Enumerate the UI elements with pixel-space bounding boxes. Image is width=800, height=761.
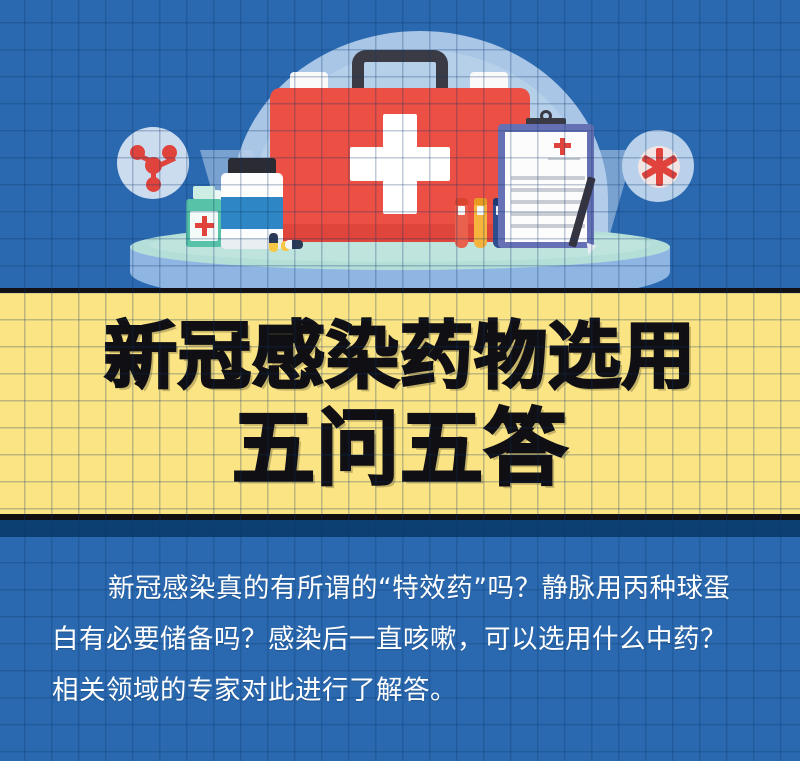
test-tube-red-cap <box>455 198 468 205</box>
test-tube-red-window <box>458 206 465 215</box>
capsule-icon-navy <box>292 240 303 249</box>
first-aid-cross-icon-bar <box>350 147 450 181</box>
molecule-node-top-right <box>162 145 177 160</box>
first-aid-kit-shadow <box>270 224 530 242</box>
pill-bottle-cap <box>228 158 276 173</box>
clipboard-text-line <box>511 176 585 180</box>
clipboard-text-line <box>511 212 585 216</box>
title-banner: 新冠感染药物选用 五问五答 <box>0 293 800 516</box>
navy-divider-band <box>0 520 800 537</box>
clipboard-underline <box>548 158 580 160</box>
molecule-icon <box>117 127 189 199</box>
test-tube-yellow-cap <box>474 198 487 205</box>
poster-root: 新冠感染药物选用 五问五答 新冠感染真的有所谓的“特效药”吗？静脉用丙种球蛋白有… <box>0 0 800 761</box>
molecule-node-top-left <box>130 145 145 160</box>
syrup-cross-icon-bar <box>195 223 214 228</box>
hero-illustration <box>0 0 800 291</box>
page-title-line-1: 新冠感染药物选用 <box>104 320 696 393</box>
clipboard-text-line <box>511 188 585 192</box>
body-paragraph: 新冠感染真的有所谓的“特效药”吗？静脉用丙种球蛋白有必要储备吗？感染后一直咳嗽，… <box>52 563 752 716</box>
capsule-icon-yellow <box>269 243 278 252</box>
test-tube-yellow-window <box>477 206 484 215</box>
syrup-bottle-cap <box>193 186 215 199</box>
first-aid-kit-handle-icon <box>352 50 448 90</box>
clipboard-text-line <box>511 200 585 204</box>
page-title-line-2: 五问五答 <box>232 407 568 490</box>
molecule-node-bottom <box>146 177 161 192</box>
clipboard-cross-icon-bar <box>554 143 571 148</box>
pill-bottle-label <box>221 197 283 229</box>
capsule-icon <box>269 233 278 243</box>
molecule-node-center <box>145 157 162 174</box>
